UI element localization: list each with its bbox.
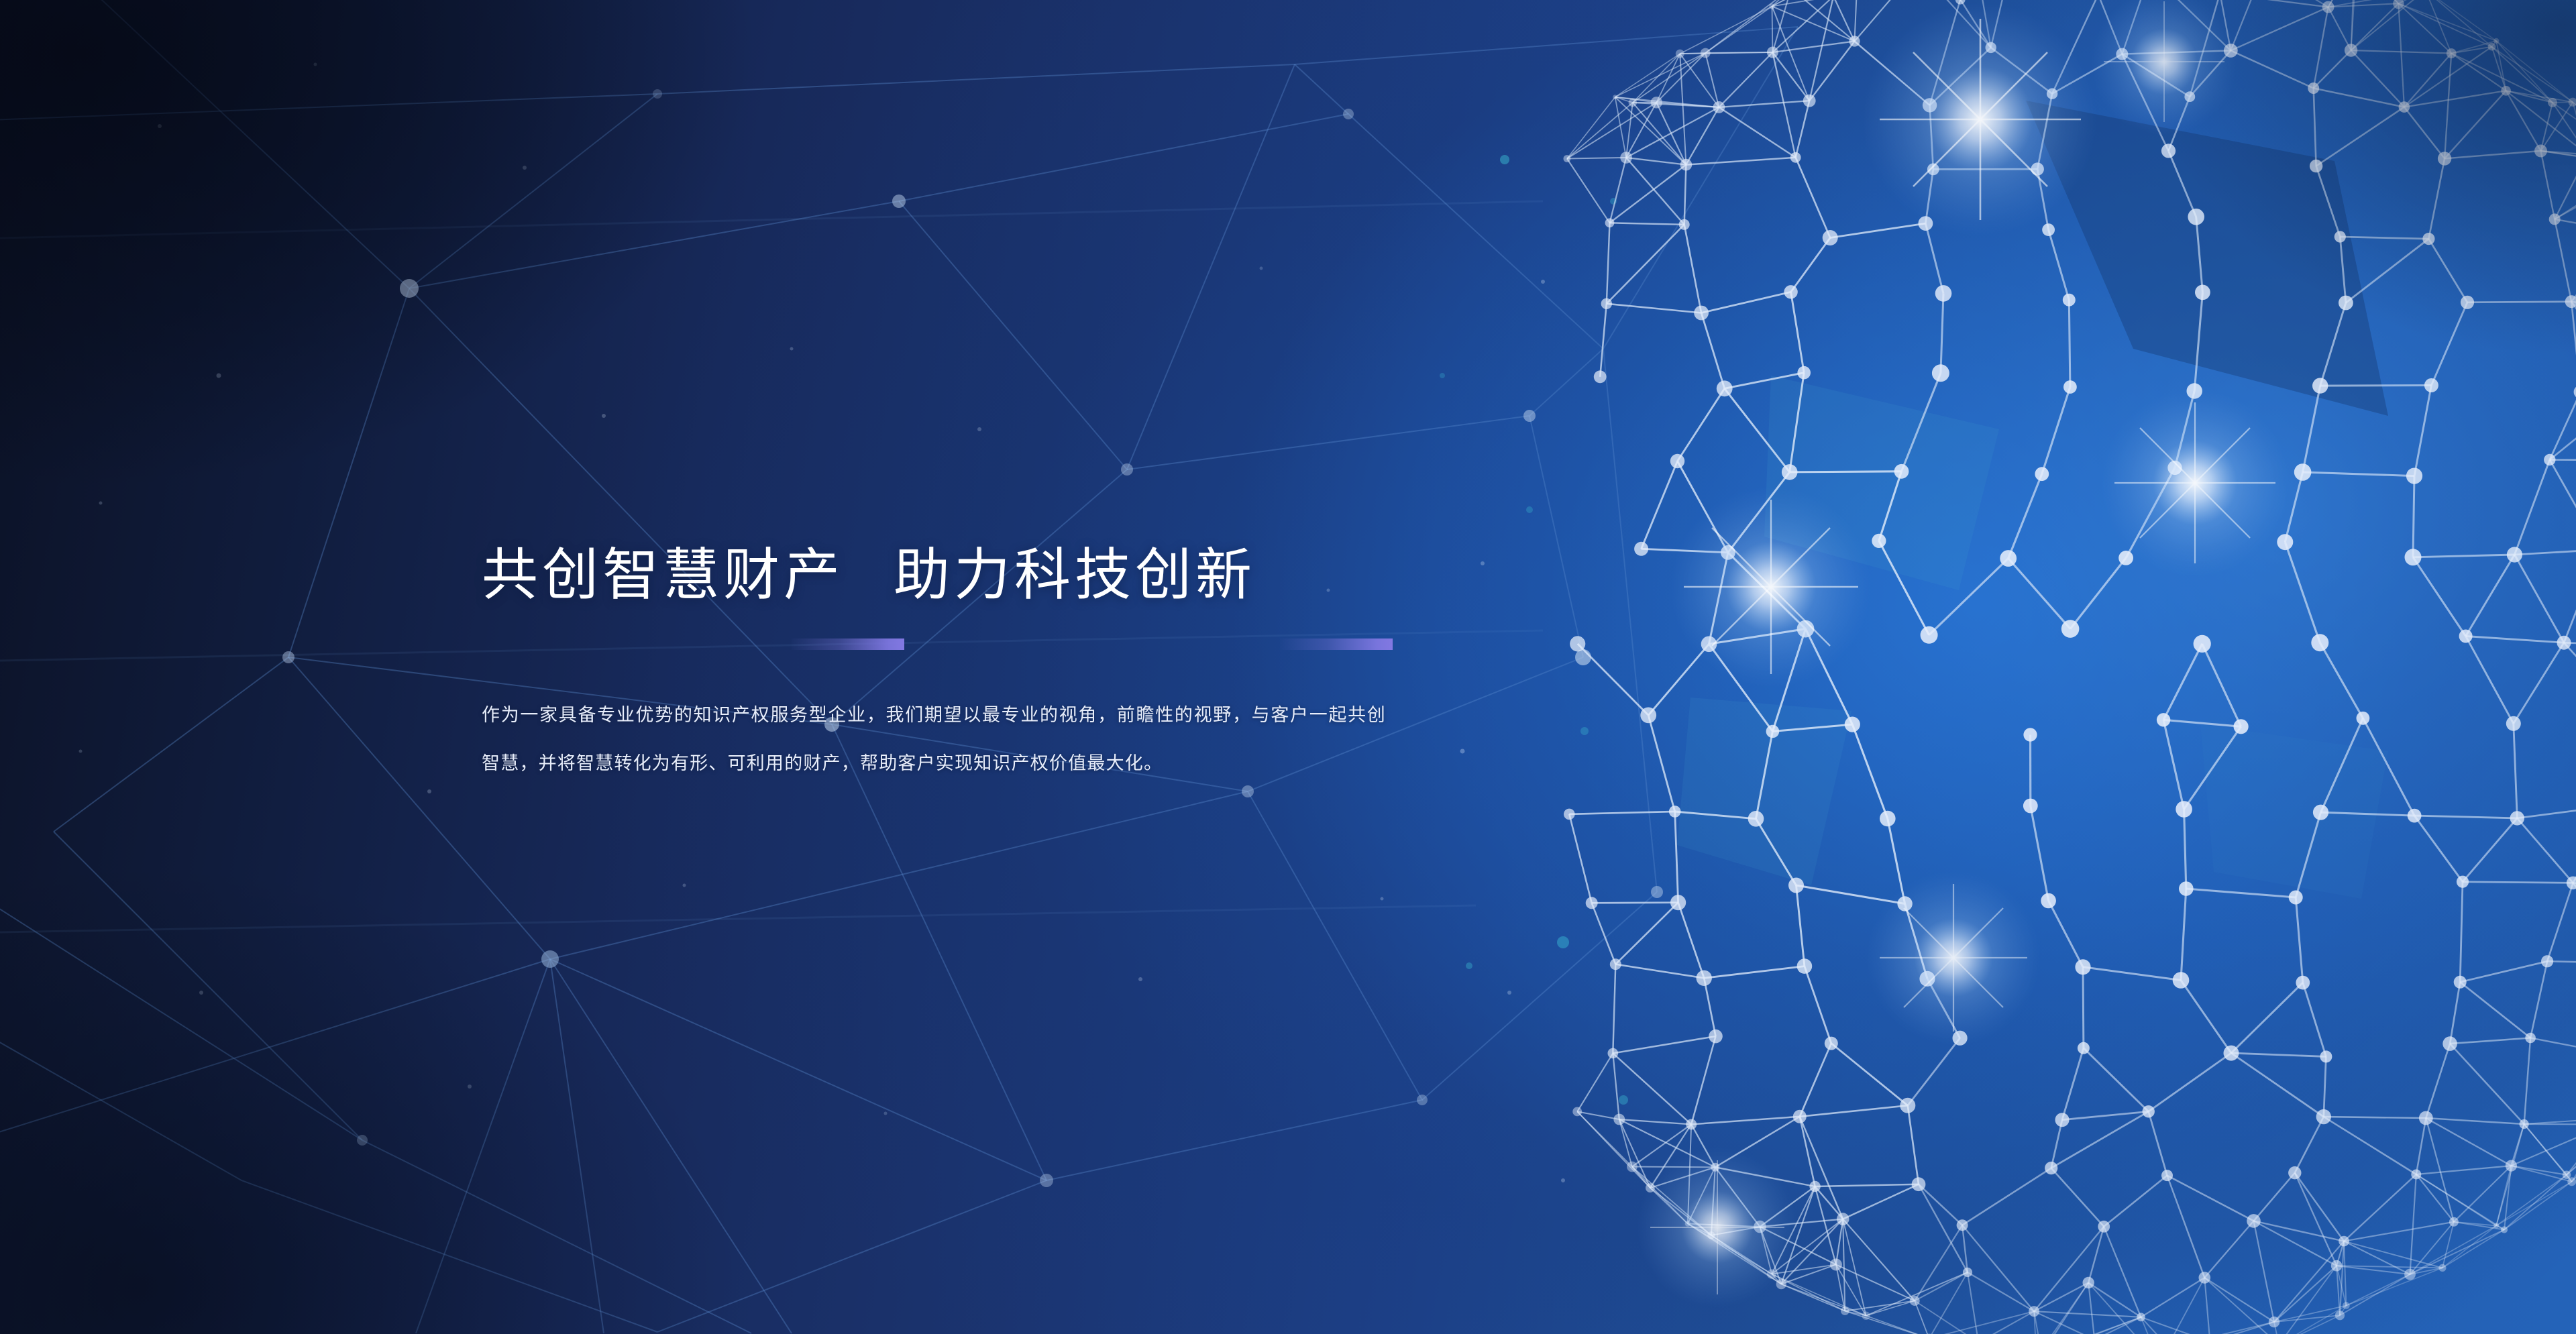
lens-flare-mid [1670, 486, 1872, 687]
vignette-overlay [0, 0, 2576, 1334]
hero-banner: 共创智慧财产助力科技创新 作为一家具备专业优势的知识产权服务型企业，我们期望以最… [0, 0, 2576, 1334]
page-title: 共创智慧财产助力科技创新 [482, 547, 1421, 603]
globe-network-mesh [0, 0, 2576, 1334]
lens-flare-top [1863, 2, 2098, 237]
lens-flare-upper-right [2090, 0, 2238, 135]
headline-segment-2: 助力科技创新 [894, 547, 1256, 603]
lens-flare-right [2101, 389, 2289, 577]
background-network-sparse [0, 0, 2576, 1334]
headline-segment-1: 共创智慧财产 [482, 547, 844, 603]
hero-text-block: 共创智慧财产助力科技创新 作为一家具备专业优势的知识产权服务型企业，我们期望以最… [482, 547, 1421, 603]
accent-underline-bar-2 [1280, 638, 1393, 650]
lens-flare-lower [1866, 871, 2041, 1045]
hero-description: 作为一家具备专业优势的知识产权服务型企业，我们期望以最专业的视角，前瞻性的视野，… [482, 691, 1386, 787]
lens-flare-bottom-left [1637, 1147, 1798, 1308]
globe-surface-sheen [0, 0, 2576, 1334]
lens-flare-group [0, 0, 2576, 1334]
accent-underline-bar-1 [792, 638, 904, 650]
